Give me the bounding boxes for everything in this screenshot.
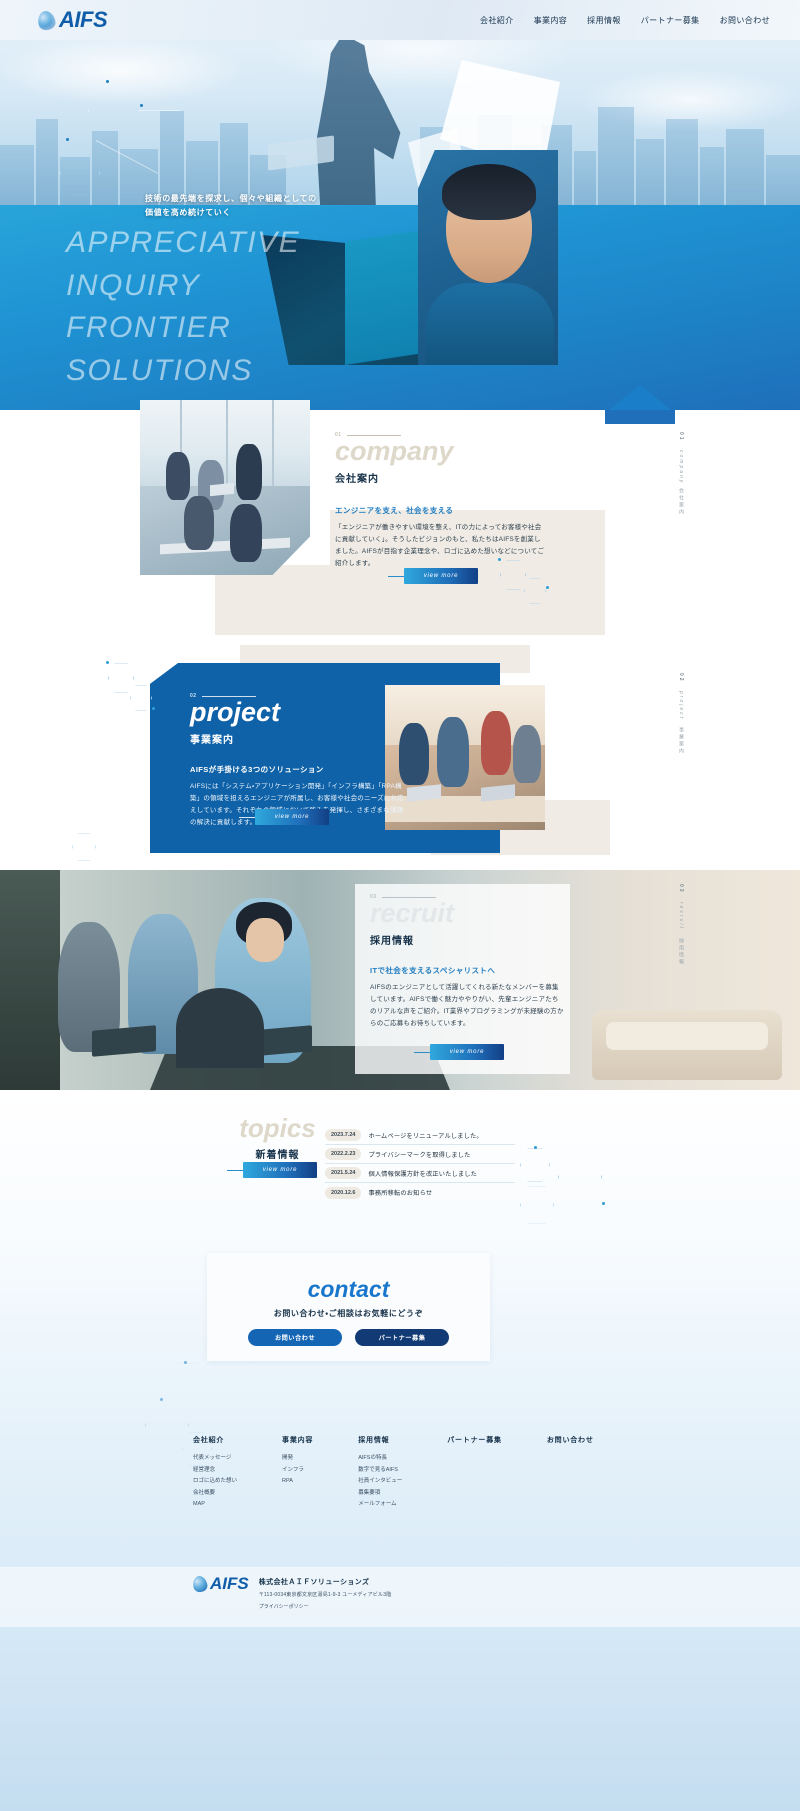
company-address: 〒113-0034東京都文京区湯島1-9-3 ユーメディアビル3階 <box>259 1591 392 1598</box>
topics-view-more[interactable]: view more <box>243 1162 317 1178</box>
company-name: 株式会社ＡＩＦソリューションズ <box>259 1577 392 1587</box>
roof-base <box>605 410 675 424</box>
recruit-side-label-en: recruit <box>678 902 684 930</box>
footer-columns: 会社紹介 代表メッセージ 経営理念 ロゴに込めた想い 会社概要 MAP 事業内容… <box>193 1435 613 1511</box>
topics-title-ja: 新着情報 <box>225 1146 330 1161</box>
footer-link[interactable]: ロゴに込めた想い <box>193 1476 237 1488</box>
footer-link[interactable]: 経営理念 <box>193 1465 237 1477</box>
view-more-button-label[interactable]: view more <box>255 809 329 825</box>
footer-link[interactable]: インフラ <box>282 1465 313 1477</box>
water-drop-icon <box>191 1574 208 1593</box>
hexagon-decor <box>130 685 152 711</box>
list-item[interactable]: 2022.2.23 プライバシーマークを取得しました <box>325 1145 515 1164</box>
topic-date: 2022.2.23 <box>325 1148 361 1160</box>
footer-col-title[interactable]: パートナー募集 <box>447 1435 502 1445</box>
project-title-en: project <box>190 699 405 726</box>
portrait-body <box>426 283 554 365</box>
footer-link[interactable]: AIFSの特長 <box>358 1453 402 1465</box>
footer-link[interactable]: 社員インタビュー <box>358 1476 402 1488</box>
recruit-dark-edge <box>0 870 60 1090</box>
hexagon-decor <box>145 1400 189 1450</box>
hero-section: 技術の最先端を探求し、個々や組織としての 価値を高め続けていく APPRECIA… <box>0 0 800 410</box>
hex-node <box>498 558 501 561</box>
hex-node <box>66 138 69 141</box>
sofa <box>592 1010 782 1080</box>
person-figure <box>166 452 190 500</box>
footer-col-title[interactable]: 採用情報 <box>358 1435 402 1445</box>
hex-node <box>106 80 109 83</box>
topic-date: 2020.12.6 <box>325 1187 361 1199</box>
footer-logo[interactable]: AIFS <box>193 1575 249 1592</box>
topic-title: ホームページをリニューアルしました。 <box>368 1131 482 1140</box>
hex-node <box>160 1398 163 1401</box>
site-footer: 会社紹介 代表メッセージ 経営理念 ロゴに込めた想い 会社概要 MAP 事業内容… <box>0 1380 800 1811</box>
hexagon-decor <box>520 1148 550 1182</box>
person-figure <box>184 496 214 550</box>
hex-node <box>546 586 549 589</box>
hex-node <box>140 104 143 107</box>
hex-node <box>184 1361 187 1364</box>
view-more-button-label[interactable]: view more <box>243 1162 317 1178</box>
company-photo <box>140 400 310 575</box>
hero-portrait-photo <box>418 150 558 365</box>
company-section: 01 company 会社案内 エンジニアを支え、社会を支える 「エンジニアが働… <box>0 390 800 640</box>
hexagon-decor <box>520 1186 554 1224</box>
footer-column-partner: パートナー募集 <box>447 1435 502 1511</box>
list-item[interactable]: 2021.5.24 個人情報保護方針を改正いたしました <box>325 1164 515 1183</box>
footer-company-info: 株式会社ＡＩＦソリューションズ 〒113-0034東京都文京区湯島1-9-3 ユ… <box>259 1575 392 1610</box>
footer-link[interactable]: 会社概要 <box>193 1488 237 1500</box>
person-figure <box>513 725 541 783</box>
recruit-view-more[interactable]: view more <box>430 1044 504 1060</box>
contact-title-en: contact <box>207 1278 490 1301</box>
hero-headline: APPRECIATIVE INQUIRY FRONTIER SOLUTIONS <box>66 222 300 392</box>
site-logo[interactable]: AIFS <box>38 9 107 31</box>
roof-shape <box>605 385 675 413</box>
laptop <box>210 483 234 497</box>
topic-title: プライバシーマークを取得しました <box>368 1150 470 1159</box>
hexagon-decor <box>72 833 96 861</box>
footer-col-title[interactable]: お問い合わせ <box>547 1435 594 1445</box>
footer-link[interactable]: 募集要項 <box>358 1488 402 1500</box>
footer-logo-text: AIFS <box>210 1575 249 1592</box>
recruit-side-label: 03 <box>678 884 684 894</box>
footer-column-recruit: 採用情報 AIFSの特長 数字で見るAIFS 社員インタビュー 募集要項 メール… <box>358 1435 402 1511</box>
topic-date: 2021.5.24 <box>325 1167 361 1179</box>
primary-nav: 会社紹介 事業内容 採用情報 パートナー募集 お問い合わせ <box>480 15 770 26</box>
water-drop-icon <box>36 9 57 31</box>
privacy-policy-link[interactable]: プライバシーポリシー <box>259 1603 392 1610</box>
contact-buttons: お問い合わせ パートナー募集 <box>207 1329 490 1346</box>
footer-link[interactable]: メールフォーム <box>358 1499 402 1511</box>
list-item[interactable]: 2023.7.24 ホームページをリニューアルしました。 <box>325 1126 515 1145</box>
company-text-block: 01 company 会社案内 エンジニアを支え、社会を支える 「エンジニアが働… <box>335 432 545 570</box>
company-side-label-en: company <box>678 450 684 484</box>
partner-button[interactable]: パートナー募集 <box>355 1329 449 1346</box>
hero-tagline: 技術の最先端を探求し、個々や組織としての 価値を高め続けていく <box>145 192 425 219</box>
hex-node <box>602 1202 605 1205</box>
company-view-more[interactable]: view more <box>404 568 478 584</box>
logo-text: AIFS <box>59 9 107 31</box>
person-figure <box>437 717 469 787</box>
footer-column-contact: お問い合わせ <box>547 1435 594 1511</box>
recruit-body: AIFSのエンジニアとして活躍してくれる新たなメンバーを募集しています。AIFS… <box>370 982 565 1030</box>
person-face <box>246 918 284 962</box>
site-header: AIFS 会社紹介 事業内容 採用情報 パートナー募集 お問い合わせ <box>0 0 800 40</box>
project-side-label-ja: 事業案内 <box>678 727 685 755</box>
recruit-title-en: recruit <box>370 900 565 927</box>
recruit-side-label-ja: 採用情報 <box>678 938 685 966</box>
project-side-label-en: project <box>678 691 684 720</box>
company-lead: エンジニアを支え、社会を支える <box>335 505 545 516</box>
project-title-ja: 事業案内 <box>190 731 405 746</box>
company-side-label: 01 <box>678 432 684 442</box>
hexagon-decor <box>558 1152 602 1202</box>
project-photo <box>385 685 545 830</box>
landing-page: 技術の最先端を探求し、個々や組織としての 価値を高め続けていく APPRECIA… <box>0 0 800 1811</box>
nav-item-partner[interactable]: パートナー募集 <box>641 15 700 26</box>
meeting-table <box>160 538 290 555</box>
topic-date: 2023.7.24 <box>325 1129 361 1141</box>
hex-connector <box>140 110 180 111</box>
hex-node <box>152 707 155 710</box>
nav-item-recruit[interactable]: 採用情報 <box>587 15 621 26</box>
view-more-button-label[interactable]: view more <box>430 1044 504 1060</box>
company-title-ja: 会社案内 <box>335 470 545 485</box>
topic-title: 事務所移転のお知らせ <box>368 1188 432 1197</box>
topics-list: 2023.7.24 ホームページをリニューアルしました。 2022.2.23 プ… <box>325 1126 515 1202</box>
person-figure <box>236 444 262 500</box>
person-figure <box>230 504 262 562</box>
company-title-en: company <box>335 438 545 465</box>
view-more-button-label[interactable]: view more <box>404 568 478 584</box>
footer-link[interactable]: RPA <box>282 1476 313 1488</box>
footer-link[interactable]: 開発 <box>282 1453 313 1465</box>
hex-node <box>534 1146 537 1149</box>
nav-item-business[interactable]: 事業内容 <box>534 15 568 26</box>
hexagon-decor <box>108 663 134 693</box>
footer-col-title[interactable]: 事業内容 <box>282 1435 313 1445</box>
contact-card: contact お問い合わせ・ご相談はお気軽にどうぞ お問い合わせ パートナー募… <box>207 1253 490 1361</box>
footer-divider-band <box>0 1567 800 1627</box>
nav-item-contact[interactable]: お問い合わせ <box>720 15 770 26</box>
person-figure-back <box>176 988 264 1068</box>
project-view-more[interactable]: view more <box>255 809 329 825</box>
contact-button[interactable]: お問い合わせ <box>248 1329 342 1346</box>
recruit-section: 03 recruit 採用情報 ITで社会を支えるスペシャリストへ AIFSのエ… <box>0 870 800 1090</box>
project-lead: AIFSが手掛ける3つのソリューション <box>190 764 405 775</box>
project-side-label: 02 <box>678 673 684 683</box>
hex-node <box>106 661 109 664</box>
topics-heading: topics 新着情報 <box>225 1115 330 1161</box>
topics-title-en: topics <box>225 1115 330 1141</box>
nav-item-company[interactable]: 会社紹介 <box>480 15 514 26</box>
recruit-title-ja: 採用情報 <box>370 932 565 947</box>
footer-link[interactable]: 数字で見るAIFS <box>358 1465 402 1477</box>
footer-column-business: 事業内容 開発 インフラ RPA <box>282 1435 313 1511</box>
person-figure <box>481 711 511 775</box>
recruit-text-block: 03 recruit 採用情報 ITで社会を支えるスペシャリストへ AIFSのエ… <box>370 894 565 1030</box>
list-item[interactable]: 2020.12.6 事務所移転のお知らせ <box>325 1183 515 1202</box>
project-section: 02 project 事業案内 AIFSが手掛ける3つのソリューション AIFS… <box>0 645 800 865</box>
recruit-lead: ITで社会を支えるスペシャリストへ <box>370 965 565 976</box>
topic-title: 個人情報保護方針を改正いたしました <box>368 1169 477 1178</box>
footer-link[interactable]: MAP <box>193 1499 237 1511</box>
contact-subtitle: お問い合わせ・ご相談はお気軽にどうぞ <box>207 1308 490 1319</box>
company-side-label-ja: 会社案内 <box>678 488 685 516</box>
portrait-hair <box>442 164 536 220</box>
footer-brand: AIFS 株式会社ＡＩＦソリューションズ 〒113-0034東京都文京区湯島1-… <box>193 1575 391 1610</box>
